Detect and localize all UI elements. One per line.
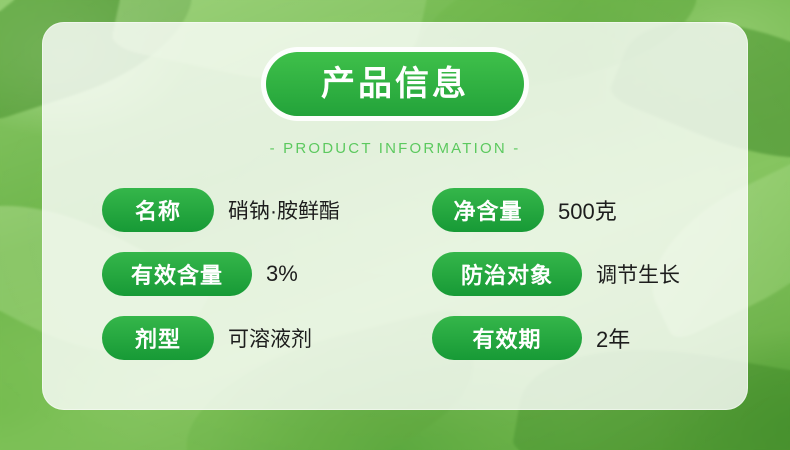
page-title: 产品信息 [321, 67, 469, 101]
spec-item-net-content: 净含量 500克 [432, 188, 617, 232]
spec-label: 有效期 [432, 316, 582, 360]
spec-item-target: 防治对象 调节生长 [432, 252, 680, 296]
spec-label: 净含量 [432, 188, 544, 232]
page-subtitle: - PRODUCT INFORMATION - [270, 140, 521, 157]
spec-value: 3% [266, 261, 298, 287]
spec-value: 调节生长 [596, 259, 680, 289]
spec-label: 名称 [102, 188, 214, 232]
table-row: 剂型 可溶液剂 有效期 2年 [102, 310, 702, 374]
spec-value: 2年 [596, 322, 630, 354]
product-info-banner: 产品信息 - PRODUCT INFORMATION - 名称 硝钠·胺鲜酯 净… [0, 0, 790, 450]
spec-value: 500克 [558, 194, 617, 226]
spec-item-formulation: 剂型 可溶液剂 [102, 316, 312, 360]
spec-value: 可溶液剂 [228, 323, 312, 353]
info-panel: 产品信息 - PRODUCT INFORMATION - 名称 硝钠·胺鲜酯 净… [42, 22, 748, 410]
table-row: 名称 硝钠·胺鲜酯 净含量 500克 [102, 182, 702, 246]
spec-label: 防治对象 [432, 252, 582, 296]
spec-value: 硝钠·胺鲜酯 [228, 195, 340, 225]
spec-label: 剂型 [102, 316, 214, 360]
title-pill: 产品信息 [266, 52, 524, 116]
spec-item-active-content: 有效含量 3% [102, 252, 298, 296]
table-row: 有效含量 3% 防治对象 调节生长 [102, 246, 702, 310]
spec-item-shelf-life: 有效期 2年 [432, 316, 630, 360]
spec-label: 有效含量 [102, 252, 252, 296]
spec-item-name: 名称 硝钠·胺鲜酯 [102, 188, 340, 232]
spec-table: 名称 硝钠·胺鲜酯 净含量 500克 有效含量 3% 防治对象 调节生长 [102, 182, 702, 374]
